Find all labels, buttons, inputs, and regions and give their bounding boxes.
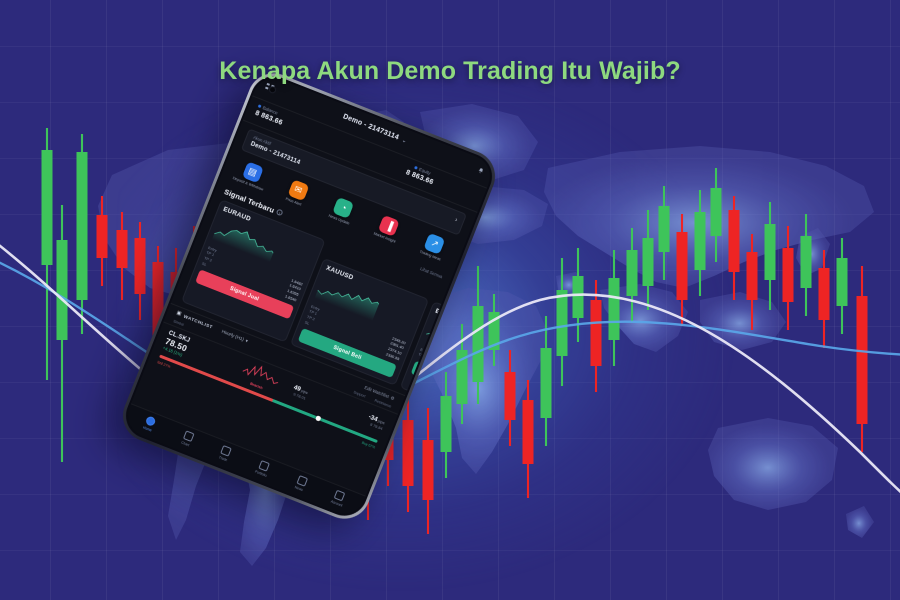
nav-item-home[interactable]: Home <box>128 410 171 439</box>
meter-handle[interactable] <box>316 416 322 422</box>
signal-row-label: SL <box>304 319 311 326</box>
chevron-down-icon[interactable]: ⌄ <box>401 138 407 145</box>
watchlist-icon: ▣ <box>175 310 182 318</box>
page-title: Kenapa Akun Demo Trading Itu Wajib? <box>0 57 900 86</box>
equity-dot-icon <box>414 166 418 170</box>
nav-item-trade[interactable]: Trade <box>203 439 246 468</box>
balance-dot-icon <box>258 104 262 108</box>
moving-average-lines <box>0 0 900 600</box>
nav-item-portfolio[interactable]: Portfolio <box>241 454 284 483</box>
watchlist-resistance-cell: -34pips 8 78.84 <box>365 414 386 432</box>
gear-icon: ⚙ <box>390 395 396 401</box>
info-icon[interactable]: i <box>276 209 284 217</box>
nav-item-news[interactable]: News <box>279 469 322 498</box>
chevron-right-icon[interactable]: › <box>453 218 458 226</box>
nav-item-chart[interactable]: Chart <box>166 425 209 454</box>
signal-row-label: SL <box>201 260 208 267</box>
signal-see-all-link[interactable]: Lihat Semua <box>420 266 444 280</box>
chevron-down-icon: ▾ <box>245 338 249 344</box>
poster-canvas: Kenapa Akun Demo Trading Itu Wajib? Demo… <box>0 0 900 600</box>
watchlist-support-cell: 49pips 9.78.01 <box>290 384 309 402</box>
nav-item-account[interactable]: Account <box>317 484 360 513</box>
